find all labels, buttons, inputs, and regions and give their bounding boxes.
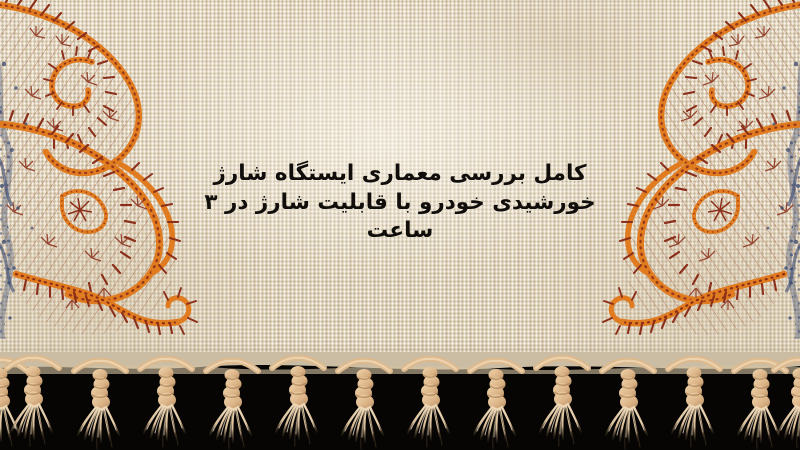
title-line-3: ساعت <box>190 217 610 246</box>
title-line-1: کامل بررسی معماری ایستگاه شارژ <box>190 160 610 189</box>
title-line-2: خورشیدی خودرو با قابلیت شارژ در ۳ <box>190 189 610 218</box>
banner-title: کامل بررسی معماری ایستگاه شارژ خورشیدی خ… <box>0 160 800 246</box>
knotted-tassel-fringe <box>0 352 800 450</box>
termeh-banner: کامل بررسی معماری ایستگاه شارژ خورشیدی خ… <box>0 0 800 450</box>
